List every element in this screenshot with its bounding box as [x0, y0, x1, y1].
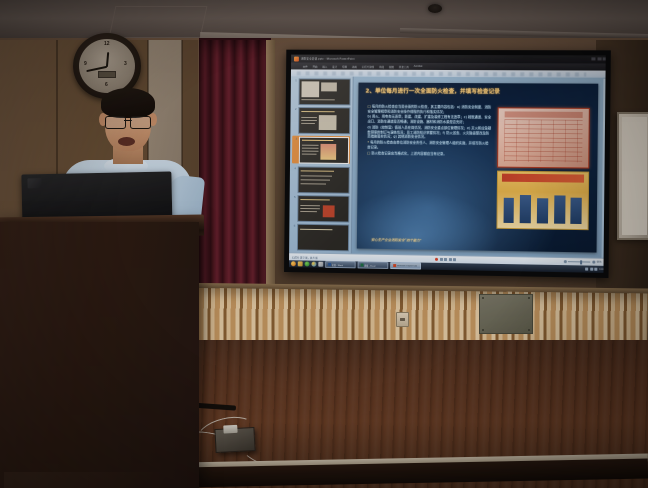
thumbnail-number: 3 — [293, 137, 297, 141]
thumbnail-preview[interactable] — [296, 224, 349, 252]
thumbnail-preview[interactable] — [298, 78, 351, 105]
slide-body-text: 每月的防火检查应当是全面的防火检查，其主要内容包括：a) 消防安全制度、消防安全… — [367, 104, 491, 158]
system-tray[interactable]: 9:18 — [585, 268, 603, 271]
podium — [0, 222, 199, 488]
maximize-icon[interactable] — [597, 57, 601, 60]
start-button-icon[interactable] — [291, 261, 296, 266]
calculator-icon[interactable] — [318, 262, 323, 267]
projection-screen-frame: 消防安全培训.pptx - Microsoft PowerPoint 文件 开始… — [284, 50, 611, 278]
slide-bullet: b) 用火、用电有无违章；新建、改建、扩建及装修工程有无违章；c) 疏散通道、安… — [368, 115, 492, 125]
chart-image-bars — [503, 187, 582, 223]
minimize-icon[interactable] — [591, 57, 595, 60]
thumbnail-number: 6 — [291, 224, 295, 228]
slide-indicator: 幻灯片 第 3 张，共 6 张 — [289, 255, 318, 259]
thumbnail-number: 4 — [292, 166, 296, 170]
slide-image-fire-safety-chart — [497, 170, 589, 230]
taskbar-item-powerpoint[interactable]: Microsoft PowerPoint — [390, 262, 421, 270]
zoom-level-label: 66% — [597, 261, 602, 264]
ribbon-tab[interactable]: 文件 — [303, 64, 308, 68]
ribbon-tab[interactable]: 设计 — [332, 64, 337, 68]
thumbnail-number: 1 — [293, 78, 297, 82]
slide-image-inspection-record-table — [497, 107, 589, 168]
speaker-hair — [101, 88, 155, 118]
sorter-view-icon[interactable] — [444, 258, 447, 261]
slide-bullet: d) 消防（控制室）值班人员在岗情况、消防安全重点部位管理情况；e) 灭火和应急… — [367, 125, 491, 140]
slide-thumbnail-selected[interactable]: 3 — [292, 136, 350, 164]
slide-thumbnail[interactable]: 2 — [292, 107, 350, 133]
tray-network-icon[interactable] — [585, 268, 588, 271]
wall-access-panel — [479, 294, 533, 334]
floor-power-box — [214, 427, 255, 453]
whiteboard — [617, 112, 648, 240]
slide-thumbnail[interactable]: 4 — [292, 166, 350, 192]
powerpoint-logo-icon — [294, 56, 299, 61]
eyeglasses-icon — [104, 116, 152, 127]
window-title: 消防安全培训.pptx - Microsoft PowerPoint — [301, 57, 355, 61]
laptop-lid-logo-icon — [27, 178, 41, 188]
tray-battery-icon[interactable] — [595, 268, 598, 271]
podium-sheen — [4, 472, 174, 488]
wall-outlet — [396, 312, 409, 327]
zoom-in-icon[interactable] — [592, 261, 595, 264]
tray-clock[interactable]: 9:18 — [599, 268, 603, 270]
slide-thumbnail-pane[interactable]: 1 2 — [289, 76, 354, 254]
slide-title: 2、单位每月进行一次全面防火检查，并填写检查记录 — [365, 87, 593, 96]
thumbnail-number: 5 — [292, 195, 296, 199]
ribbon-tab[interactable]: 开始 — [313, 64, 318, 68]
table-image-header — [504, 111, 583, 117]
taskbar-item-label: 表格 - Excel — [364, 263, 376, 267]
ribbon-tab[interactable]: 视图 — [389, 64, 394, 68]
clock-face: 12 3 6 9 — [79, 39, 135, 93]
current-slide[interactable]: 2、单位每月进行一次全面防火检查，并填写检查记录 每月的防火检查应当是全面的防火… — [357, 83, 599, 252]
slideshow-icon[interactable] — [453, 258, 456, 261]
language-icon[interactable] — [435, 258, 438, 261]
ribbon-tab[interactable]: 动画 — [352, 64, 357, 68]
lens-left — [105, 116, 126, 129]
slide-bullet: 每月的防火检查应当是全面的防火检查，其主要内容包括：a) 消防安全制度、消防安全… — [368, 104, 492, 114]
window-controls[interactable] — [591, 57, 605, 60]
clock-date-window — [98, 71, 116, 78]
lecture-hall-photo: 12 3 6 9 消防安全培训.pptx - Microsoft PowerPo… — [0, 0, 648, 488]
slide-bullet: 防火检查记录应当格式化，上述内容都应当有记录。 — [367, 151, 491, 157]
thumbnail-preview[interactable] — [298, 137, 349, 164]
ribbon-tab[interactable]: 插入 — [322, 64, 327, 68]
ribbon-tab[interactable]: 切换 — [342, 64, 347, 68]
slide-thumbnail[interactable]: 1 — [293, 78, 351, 104]
thumbnail-preview[interactable] — [297, 195, 350, 222]
view-mode-buttons[interactable] — [435, 258, 456, 261]
plug-icon — [223, 425, 237, 434]
ribbon-tab[interactable]: 开发工具 — [399, 64, 409, 68]
ribbon-tab[interactable]: 幻灯片放映 — [362, 64, 374, 68]
ribbon-tab[interactable]: Acrobat — [414, 65, 423, 68]
zoom-slider-track[interactable] — [568, 261, 590, 262]
zoom-control[interactable]: 66% — [563, 260, 601, 264]
zoom-out-icon[interactable] — [563, 260, 566, 263]
browser-chrome-icon[interactable] — [311, 262, 316, 267]
whiteboard-surface — [622, 117, 647, 235]
media-player-icon[interactable] — [305, 261, 310, 266]
lens-right — [130, 116, 151, 129]
thumbnail-preview[interactable] — [298, 107, 351, 134]
taskbar-item-label: Microsoft PowerPoint — [397, 265, 418, 267]
taskbar-item-label: 文档 - Word — [332, 262, 343, 266]
tray-volume-icon[interactable] — [590, 268, 593, 271]
speaker-mouth — [118, 137, 135, 146]
slide-editing-area[interactable]: 2、单位每月进行一次全面防火检查，并填写检查记录 每月的防火检查应当是全面的防火… — [352, 77, 604, 259]
thumbnail-number: 2 — [293, 107, 297, 111]
ceiling-vent — [109, 6, 208, 38]
powerpoint-window: 消防安全培训.pptx - Microsoft PowerPoint 文件 开始… — [289, 55, 606, 273]
close-icon[interactable] — [603, 57, 606, 60]
taskbar-item-word[interactable]: 文档 - Word — [325, 261, 356, 269]
normal-view-icon[interactable] — [440, 258, 443, 261]
thumbnail-preview[interactable] — [297, 166, 350, 193]
ribbon-controls[interactable] — [297, 71, 586, 76]
projection-screen: 消防安全培训.pptx - Microsoft PowerPoint 文件 开始… — [289, 55, 606, 273]
taskbar-item-excel[interactable]: 表格 - Excel — [358, 261, 389, 269]
recessed-ceiling-light-icon — [428, 4, 442, 13]
slide-thumbnail[interactable]: 5 — [291, 195, 349, 222]
slide-thumbnail[interactable]: 6 — [291, 224, 349, 251]
ribbon-tab[interactable]: 审阅 — [379, 64, 384, 68]
chart-image-banner — [502, 174, 584, 183]
zoom-slider-knob[interactable] — [580, 260, 582, 264]
windows-explorer-icon[interactable] — [298, 261, 303, 266]
slide-bullet: 每月的防火检查由单位消防安全责任人、消防安全管理人组织实施，并填写防火检查记录。 — [367, 140, 491, 150]
reading-view-icon[interactable] — [449, 258, 452, 261]
table-image-grid — [504, 120, 583, 163]
